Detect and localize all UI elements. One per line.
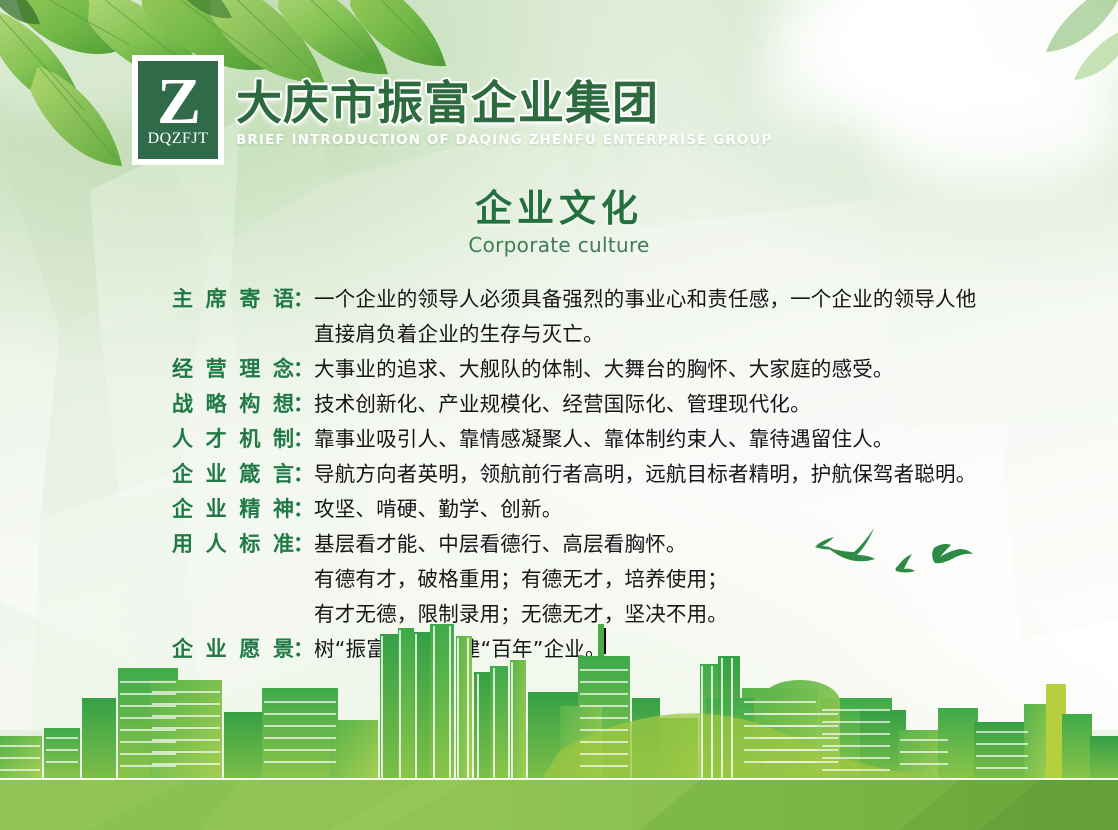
leaf-decoration-right (898, 0, 1118, 130)
cloud-shape (768, 0, 998, 110)
culture-entry-row: 企业精神攻坚、啃硬、勤学、创新。 (172, 493, 1002, 526)
culture-entry-continuation-row: 有才无德，限制录用；无德无才，坚决不用。 (172, 598, 1002, 631)
entry-text-line: 一个企业的领导人必须具备强烈的事业心和责任感，一个企业的领导人他 (294, 283, 1002, 316)
cloud-shape (758, 40, 908, 135)
entry-label: 企业愿景 (172, 633, 294, 666)
poster-canvas: Z DQZFJT 大庆市振富企业集团 BRIEF INTRODUCTION OF… (0, 0, 1118, 830)
company-name-en: BRIEF INTRODUCTION OF DAQING ZHENFU ENTE… (236, 132, 772, 148)
entry-label: 人才机制 (172, 423, 294, 456)
entry-text-line: 有德有才，破格重用；有德无才，培养使用； (294, 563, 1002, 596)
entry-text-line: 基层看才能、中层看德行、高层看胸怀。 (294, 528, 1002, 561)
entry-label: 经营理念 (172, 353, 294, 386)
logo-abbreviation: DQZFJT (148, 131, 209, 147)
entry-label: 企业箴言 (172, 458, 294, 491)
culture-entry-list: 主席寄语一个企业的领导人必须具备强烈的事业心和责任感，一个企业的领导人他直接肩负… (172, 283, 1002, 668)
section-title-cn: 企业文化 (0, 188, 1118, 231)
culture-entry-row: 人才机制靠事业吸引人、靠情感凝聚人、靠体制约束人、靠待遇留住人。 (172, 423, 1002, 456)
entry-text-line: 技术创新化、产业规模化、经营国际化、管理现代化。 (294, 388, 1002, 421)
entry-text-line: 树“振富”品牌，建“百年”企业。 (294, 633, 1002, 666)
culture-entry-row: 企业箴言导航方向者英明，领航前行者高明，远航目标者精明，护航保驾者聪明。 (172, 458, 1002, 491)
entry-label: 战略构想 (172, 388, 294, 421)
entry-text-line: 直接肩负着企业的生存与灭亡。 (294, 318, 1002, 351)
entry-label: 用人标准 (172, 528, 294, 561)
brand-titles: 大庆市振富企业集团 BRIEF INTRODUCTION OF DAQING Z… (236, 55, 772, 148)
culture-entry-row: 经营理念大事业的追求、大舰队的体制、大舞台的胸怀、大家庭的感受。 (172, 353, 1002, 386)
company-name-cn: 大庆市振富企业集团 (236, 79, 772, 127)
section-heading: 企业文化 Corporate culture (0, 188, 1118, 257)
culture-entry-row: 主席寄语一个企业的领导人必须具备强烈的事业心和责任感，一个企业的领导人他 (172, 283, 1002, 316)
brand-header: Z DQZFJT 大庆市振富企业集团 BRIEF INTRODUCTION OF… (132, 55, 772, 165)
cloud-shape (818, 0, 1118, 130)
section-title-en: Corporate culture (0, 233, 1118, 257)
entry-text-line: 有才无德，限制录用；无德无才，坚决不用。 (294, 598, 1002, 631)
entry-text-line: 攻坚、啃硬、勤学、创新。 (294, 493, 1002, 526)
entry-text-line: 靠事业吸引人、靠情感凝聚人、靠体制约束人、靠待遇留住人。 (294, 423, 1002, 456)
cloud-shape (868, 60, 1118, 190)
culture-entry-row: 战略构想技术创新化、产业规模化、经营国际化、管理现代化。 (172, 388, 1002, 421)
culture-entry-row: 企业愿景树“振富”品牌，建“百年”企业。 (172, 633, 1002, 666)
entry-text-line: 大事业的追求、大舰队的体制、大舞台的胸怀、大家庭的感受。 (294, 353, 1002, 386)
entry-label: 主席寄语 (172, 283, 294, 316)
culture-entry-continuation-row: 直接肩负着企业的生存与灭亡。 (172, 318, 1002, 351)
logo-inner-block: Z DQZFJT (138, 61, 218, 159)
culture-entry-continuation-row: 有德有才，破格重用；有德无才，培养使用； (172, 563, 1002, 596)
culture-entry-row: 用人标准基层看才能、中层看德行、高层看胸怀。 (172, 528, 1002, 561)
entry-text-line: 导航方向者英明，领航前行者高明，远航目标者精明，护航保驾者聪明。 (294, 458, 1002, 491)
entry-label: 企业精神 (172, 493, 294, 526)
company-logo: Z DQZFJT (132, 55, 224, 165)
logo-letter: Z (157, 75, 199, 129)
